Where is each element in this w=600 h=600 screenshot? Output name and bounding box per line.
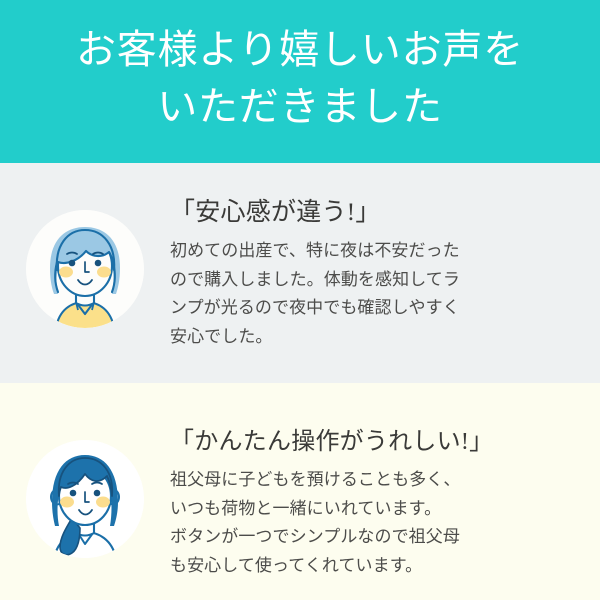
avatar bbox=[26, 440, 144, 558]
testimonial-text-1: 「安心感が違う!」 初めての出産で、特に夜は不安だった ので購入しました。体動を… bbox=[170, 163, 600, 351]
testimonial-heading: 「かんたん操作がうれしい!」 bbox=[170, 427, 584, 457]
testimonial-card-2: 「かんたん操作がうれしい!」 祖父母に子どもを預けることも多く、 いつも荷物と一… bbox=[0, 383, 600, 600]
testimonial-card-1: 「安心感が違う!」 初めての出産で、特に夜は不安だった ので購入しました。体動を… bbox=[0, 163, 600, 383]
avatar-container-2 bbox=[0, 383, 170, 558]
avatar bbox=[26, 210, 144, 328]
avatar-container-1 bbox=[0, 163, 170, 328]
avatar-woman-ponytail-icon bbox=[26, 440, 144, 558]
testimonial-body: 祖父母に子どもを預けることも多く、 いつも荷物と一緒にいれています。 ボタンが一… bbox=[170, 466, 584, 580]
testimonial-body: 初めての出産で、特に夜は不安だった ので購入しました。体動を感知してラ ンプが光… bbox=[170, 237, 584, 351]
avatar-woman-blue-bob-icon bbox=[26, 210, 144, 328]
header-banner: お客様より嬉しいお声を いただきました bbox=[0, 0, 600, 163]
customer-voices-page: お客様より嬉しいお声を いただきました bbox=[0, 0, 600, 600]
page-title: お客様より嬉しいお声を いただきました bbox=[0, 0, 600, 136]
testimonial-heading: 「安心感が違う!」 bbox=[170, 197, 584, 228]
testimonial-text-2: 「かんたん操作がうれしい!」 祖父母に子どもを預けることも多く、 いつも荷物と一… bbox=[170, 383, 600, 580]
